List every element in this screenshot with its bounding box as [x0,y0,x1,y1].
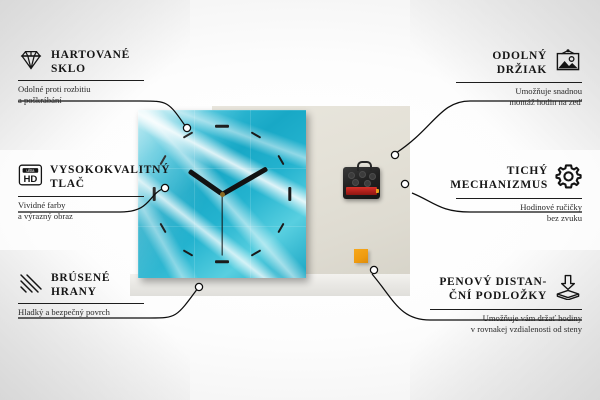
feature-subtitle: Umožňuje snadnou montáž hodin na zeď [456,86,582,107]
feature-tempered-glass[interactable]: HARTOVANÉ SKLO Odolné proti rozbitiu a p… [18,49,146,106]
feature-durable-hanger[interactable]: ODOLNÝ DRŽIAK Umožňuje snadnou montáž ho… [456,49,582,108]
feature-title: ODOLNÝ DRŽIAK [492,50,547,77]
clock-tick [251,249,261,256]
feature-polished-edges[interactable]: BRÚSENÉ HRANY Hladký a bezpečný povrch [18,272,146,318]
clock-tick [183,249,193,256]
feature-title: TICHÝ MECHANIZMUS [450,165,548,192]
feature-rule [18,303,144,304]
feature-subtitle: Umožňuje vám držať hodiny v rovnakej vzd… [430,313,582,334]
press-pad-arrow-icon [554,274,582,305]
mechanism-dial-a [348,172,355,179]
feature-title: PENOVÝ DISTAN- ČNÍ PODLOŽKY [439,276,547,303]
clock-center-hub [220,192,225,197]
clock-minute-hand [221,166,269,196]
mechanism-dial-d [352,179,359,186]
feature-subtitle: Vividné farby a výrazný obraz [18,200,146,221]
feature-title: HARTOVANÉ SKLO [51,49,130,76]
clock-second-hand [221,194,222,256]
feature-title: VYSOKOKVALITNÝ TLAČ [50,164,170,191]
clock-face [138,110,306,278]
mechanism-dial-b [359,171,366,178]
clock-tick [277,223,284,233]
svg-text:ultra: ultra [26,168,35,173]
picture-frame-hanger-icon [554,49,582,78]
clock-tick [277,155,284,165]
mechanism-hanger-hook [357,161,372,171]
feature-silent-mechanism[interactable]: TICHÝ MECHANIZMUS Hodinové ručičky bez z… [456,163,582,224]
feature-rule [456,198,582,199]
clock-tick [160,223,167,233]
wire-durable-hanger [396,101,582,153]
mechanism-dial-c [369,173,376,180]
clock-tick [289,187,292,201]
clock-tick [183,132,193,139]
feature-subtitle: Hodinové ručičky bez zvuku [456,202,582,223]
mechanism-dial-e [364,180,371,187]
feature-foam-spacers[interactable]: PENOVÝ DISTAN- ČNÍ PODLOŽKY Umožňuje vám… [430,274,582,335]
feature-rule [18,196,144,197]
feature-rule [456,82,582,83]
clock-tick [215,125,229,128]
gear-icon [555,163,582,194]
ultra-hd-badge-icon: ultra HD [18,163,43,192]
feature-subtitle: Odolné proti rozbitiu a poškrábání [18,84,146,105]
battery [346,187,377,195]
foam-spacer-pad [354,249,368,263]
diamond-icon [18,49,44,76]
feature-rule [430,309,582,310]
clock-tick [215,261,229,264]
feature-title: BRÚSENÉ HRANY [51,272,110,299]
product-photo [130,96,410,296]
clock-mechanism [343,167,380,199]
feature-subtitle: Hladký a bezpečný povrch [18,307,146,318]
feature-high-quality-print[interactable]: ultra HD VYSOKOKVALITNÝ TLAČ Vividné far… [18,163,146,222]
diagonal-lines-icon [18,272,44,299]
feature-rule [18,80,144,81]
clock-tick [251,132,261,139]
infographic-canvas: HARTOVANÉ SKLO Odolné proti rozbitiu a p… [0,0,600,400]
svg-text:HD: HD [23,174,37,185]
clock-hour-hand [188,169,224,196]
